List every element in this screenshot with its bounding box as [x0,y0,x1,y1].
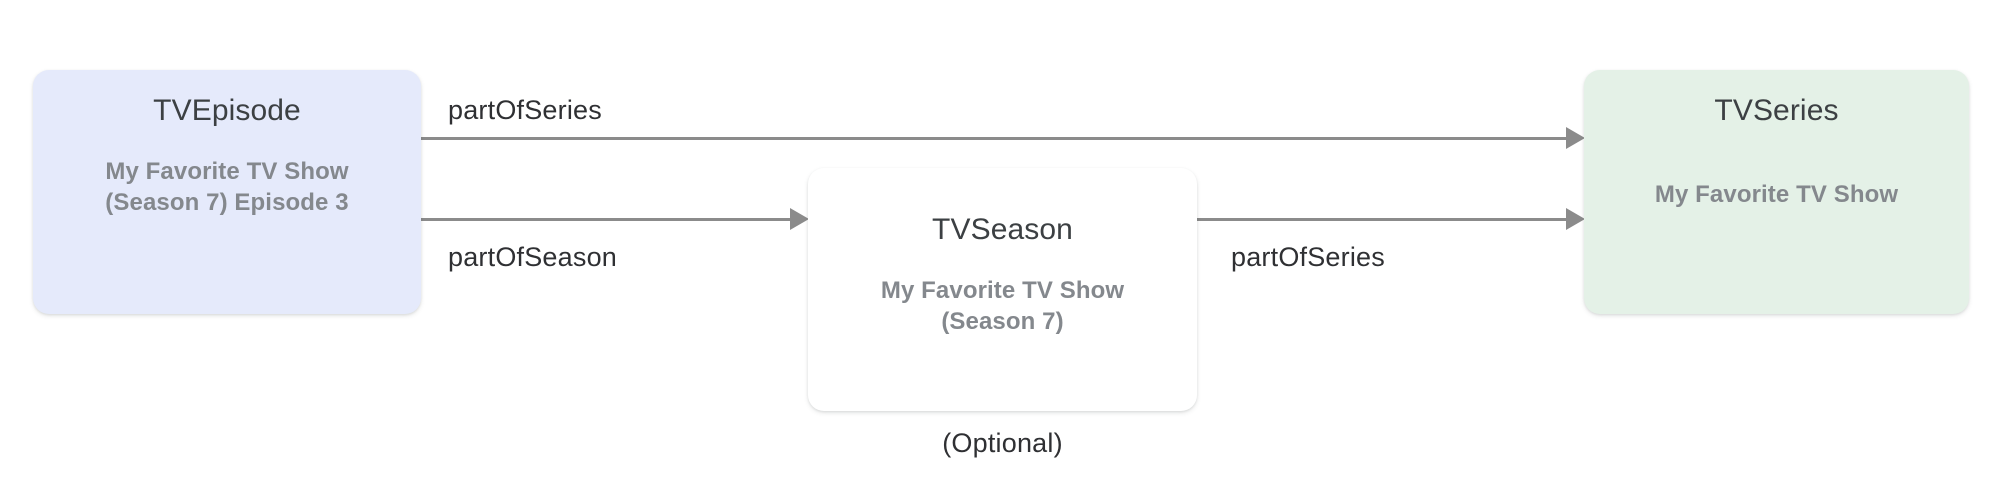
arrowhead-icon-season-to-series [1566,208,1585,230]
edge-line-episode-to-season [421,218,792,221]
edge-label-part-of-series-season: partOfSeries [1231,244,1385,271]
arrowhead-icon-episode-to-series [1566,127,1585,149]
node-tvseason-subtitle: My Favorite TV Show (Season 7) [881,275,1124,338]
node-tvseason-title: TVSeason [932,213,1073,248]
edge-line-episode-to-series [421,137,1567,140]
arrowhead-icon-episode-to-season [790,208,809,230]
annotation-optional-tvseason: (Optional) [808,430,1197,457]
node-tvseries-title: TVSeries [1714,94,1838,129]
node-tvepisode-title: TVEpisode [153,94,301,129]
node-tvseason[interactable]: TVSeason My Favorite TV Show (Season 7) [808,168,1197,411]
node-tvseries-subtitle: My Favorite TV Show [1655,179,1898,211]
edge-label-part-of-series-episode: partOfSeries [448,97,602,124]
edge-line-season-to-series [1197,218,1567,221]
diagram-canvas: partOfSeries partOfSeason partOfSeries T… [0,0,2000,495]
edge-label-part-of-season: partOfSeason [448,244,617,271]
node-tvepisode-subtitle: My Favorite TV Show (Season 7) Episode 3 [105,156,348,219]
node-tvepisode[interactable]: TVEpisode My Favorite TV Show (Season 7)… [33,70,421,314]
node-tvseries[interactable]: TVSeries My Favorite TV Show [1584,70,1969,314]
